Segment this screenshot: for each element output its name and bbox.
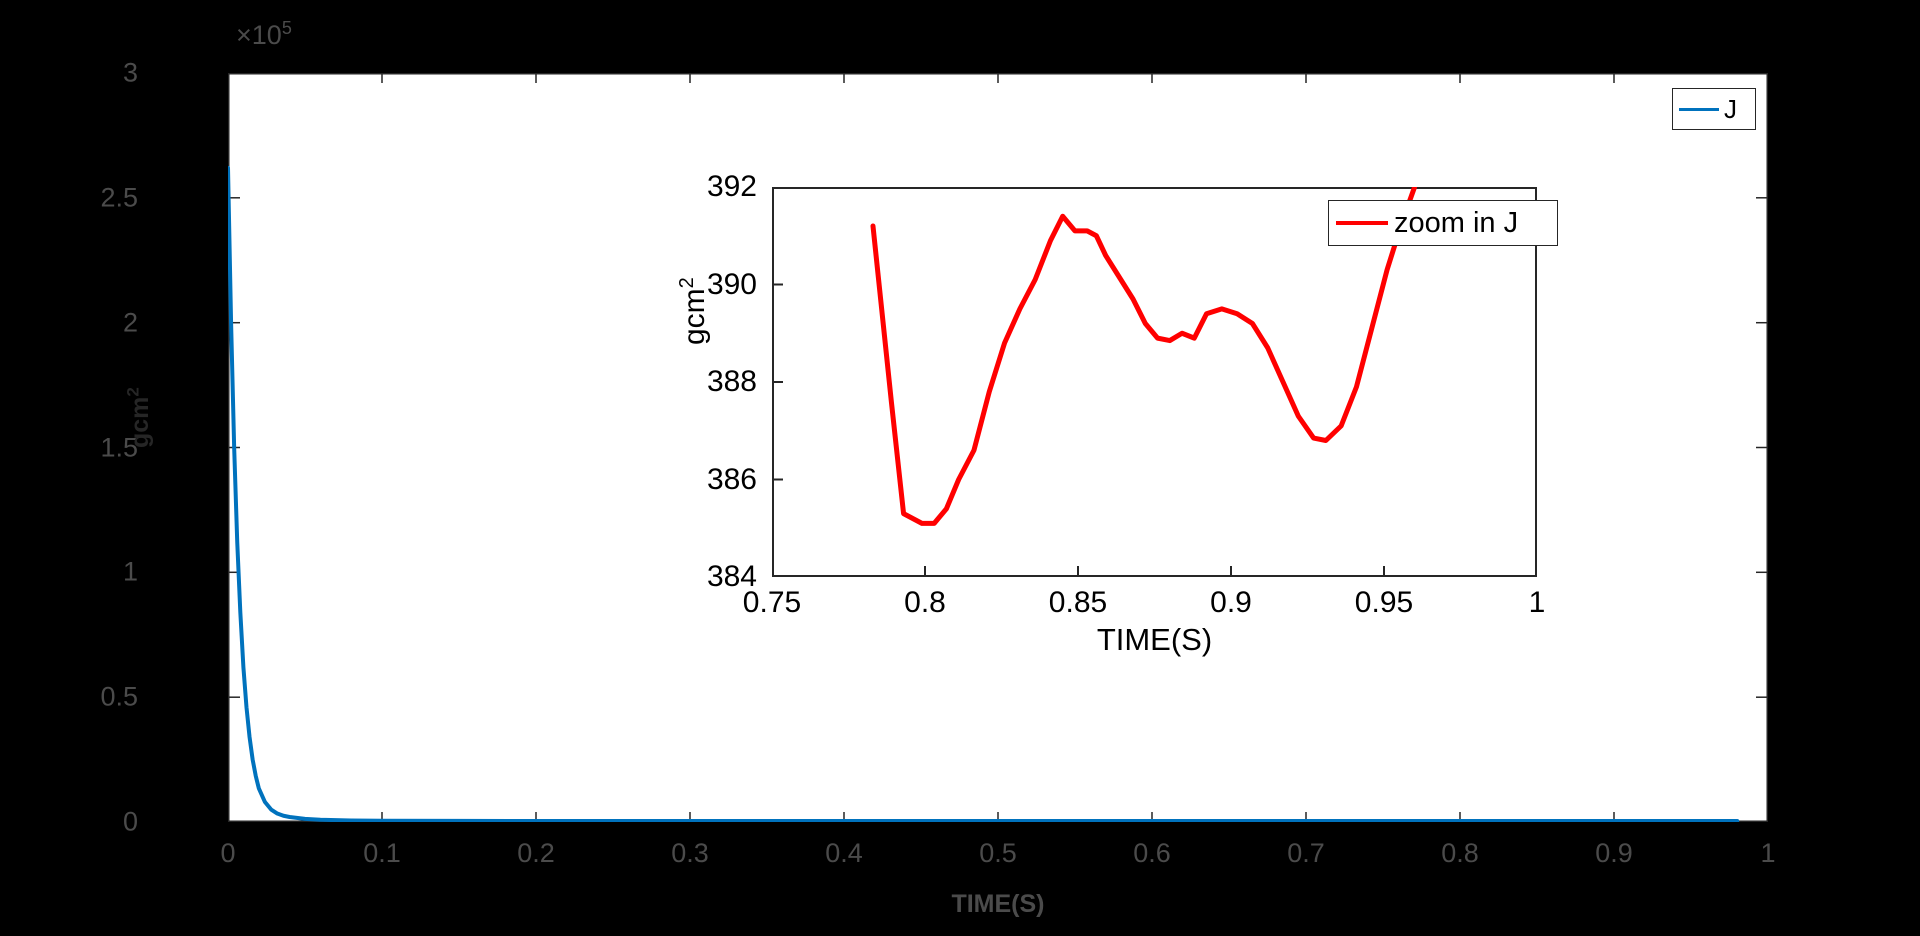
main-xtick-label-0_4: 0.4	[825, 840, 863, 867]
inset-xtick-label-0_95: 0.95	[1355, 588, 1413, 618]
inset-yaxis-label: gcm2	[678, 277, 712, 345]
main-xtick-label-0_3: 0.3	[671, 840, 709, 867]
inset-xtick-label-0_75: 0.75	[743, 588, 801, 618]
main-yaxis-label: gcm2	[126, 387, 155, 448]
main-ytick-label-2: 2	[123, 309, 138, 336]
inset-ytick-label-386: 386	[707, 465, 757, 495]
main-yaxis-exponent: ×105	[236, 22, 292, 49]
inset-xtick-label-0_85: 0.85	[1049, 588, 1107, 618]
main-ytick-label-1: 1	[123, 559, 138, 586]
inset-ytick-label-388: 388	[707, 367, 757, 397]
main-xtick-label-0_9: 0.9	[1595, 840, 1633, 867]
main-legend[interactable]: J	[1672, 88, 1756, 130]
main-xtick-label-1: 1	[1760, 840, 1775, 867]
main-xtick-label-0_2: 0.2	[517, 840, 555, 867]
main-legend-line-swatch	[1679, 108, 1719, 111]
main-ytick-label-0_5: 0.5	[100, 684, 138, 711]
main-xtick-label-0_5: 0.5	[979, 840, 1017, 867]
inset-legend[interactable]: zoom in J	[1328, 200, 1558, 246]
main-ytick-label-2_5: 2.5	[100, 184, 138, 211]
inset-xaxis-label: TIME(S)	[772, 622, 1537, 658]
inset-legend-label: zoom in J	[1394, 209, 1518, 238]
inset-xtick-label-0_9: 0.9	[1210, 588, 1252, 618]
main-ytick-label-3: 3	[123, 60, 138, 87]
main-xaxis-label: TIME(S)	[228, 890, 1768, 919]
inset-xtick-label-0_8: 0.8	[904, 588, 946, 618]
main-ytick-label-0: 0	[123, 809, 138, 836]
main-xtick-label-0: 0	[220, 840, 235, 867]
main-legend-label: J	[1724, 96, 1737, 122]
inset-ytick-label-390: 390	[707, 270, 757, 300]
inset-ytick-label-392: 392	[707, 172, 757, 202]
main-xtick-label-0_7: 0.7	[1287, 840, 1325, 867]
inset-xtick-label-1: 1	[1529, 588, 1546, 618]
figure-canvas: ×105 0 0.5 1 1.5 2 2.5 3 0 0.1 0.2 0.3 0…	[0, 0, 1920, 936]
main-xtick-label-0_8: 0.8	[1441, 840, 1479, 867]
main-xtick-label-0_1: 0.1	[363, 840, 401, 867]
main-xtick-label-0_6: 0.6	[1133, 840, 1171, 867]
inset-legend-line-swatch	[1336, 221, 1388, 225]
